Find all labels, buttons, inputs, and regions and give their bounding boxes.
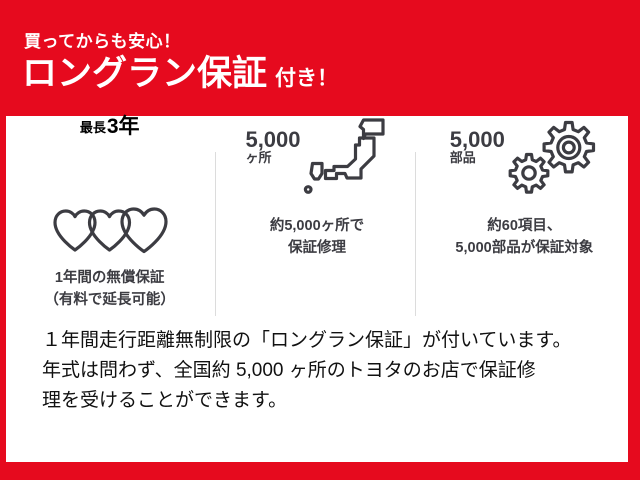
gears-icon bbox=[507, 116, 599, 200]
feature-columns: 最長 3年 1年間の無償保証 （有料で延長可能） bbox=[6, 116, 628, 320]
caption-line-1: 約60項目、 bbox=[455, 216, 593, 238]
header-title-suffix: 付き！ bbox=[275, 68, 338, 89]
longrun-warranty-banner: 買ってからも安心！ ロングラン保証 付き！ 最長 3年 bbox=[0, 0, 640, 480]
three-hearts-icon bbox=[52, 202, 168, 254]
banner-header: 買ってからも安心！ ロングラン保証 付き！ bbox=[0, 0, 640, 116]
metric-label-parts: 部品 bbox=[450, 151, 476, 165]
feature-caption-warranty-term: 1年間の無償保証 （有料で延長可能） bbox=[44, 268, 175, 312]
caption-line-2: 保証修理 bbox=[270, 238, 364, 260]
metric-value-parts: 5,000 bbox=[450, 128, 505, 151]
body-line-1: １年間走行距離無制限の「ロングラン保証」が付いています。 bbox=[42, 326, 602, 356]
body-line-3: 理を受けることができます。 bbox=[42, 386, 602, 416]
caption-line-1: 約5,000ヶ所で bbox=[270, 216, 364, 238]
feature-caption-service-locations: 約5,000ヶ所で 保証修理 bbox=[270, 216, 364, 260]
japan-map-icon bbox=[303, 116, 389, 200]
metric-value-locations: 5,000 bbox=[245, 128, 300, 151]
metric-label-max: 最長 bbox=[80, 121, 106, 135]
caption-line-1: 1年間の無償保証 bbox=[44, 268, 175, 290]
metric-value-years: 3年 bbox=[107, 116, 140, 138]
body-line-2: 年式は問わず、全国約 5,000 ヶ所のトヨタのお店で保証修 bbox=[42, 356, 602, 386]
metric-service-locations: 5,000 ヶ所 bbox=[245, 116, 388, 202]
metric-covered-parts: 5,000 部品 bbox=[450, 116, 599, 202]
feature-warranty-term: 最長 3年 1年間の無償保証 （有料で延長可能） bbox=[6, 116, 213, 320]
feature-caption-covered-parts: 約60項目、 5,000部品が保証対象 bbox=[455, 216, 593, 260]
header-kicker: 買ってからも安心！ bbox=[24, 27, 181, 52]
metric-label-locations: ヶ所 bbox=[245, 151, 271, 165]
page-title: ロングラン保証 bbox=[22, 56, 267, 91]
feature-covered-parts: 5,000 部品 bbox=[421, 116, 628, 320]
metric-warranty-term: 最長 3年 bbox=[80, 116, 140, 202]
content-panel: 最長 3年 1年間の無償保証 （有料で延長可能） bbox=[6, 116, 628, 462]
caption-line-2: 5,000部品が保証対象 bbox=[455, 238, 593, 260]
feature-service-locations: 5,000 ヶ所 bbox=[213, 116, 420, 320]
body-paragraph: １年間走行距離無制限の「ロングラン保証」が付いています。 年式は問わず、全国約 … bbox=[42, 326, 602, 416]
header-title-row: ロングラン保証 付き！ bbox=[22, 56, 338, 91]
caption-line-2: （有料で延長可能） bbox=[44, 290, 175, 312]
